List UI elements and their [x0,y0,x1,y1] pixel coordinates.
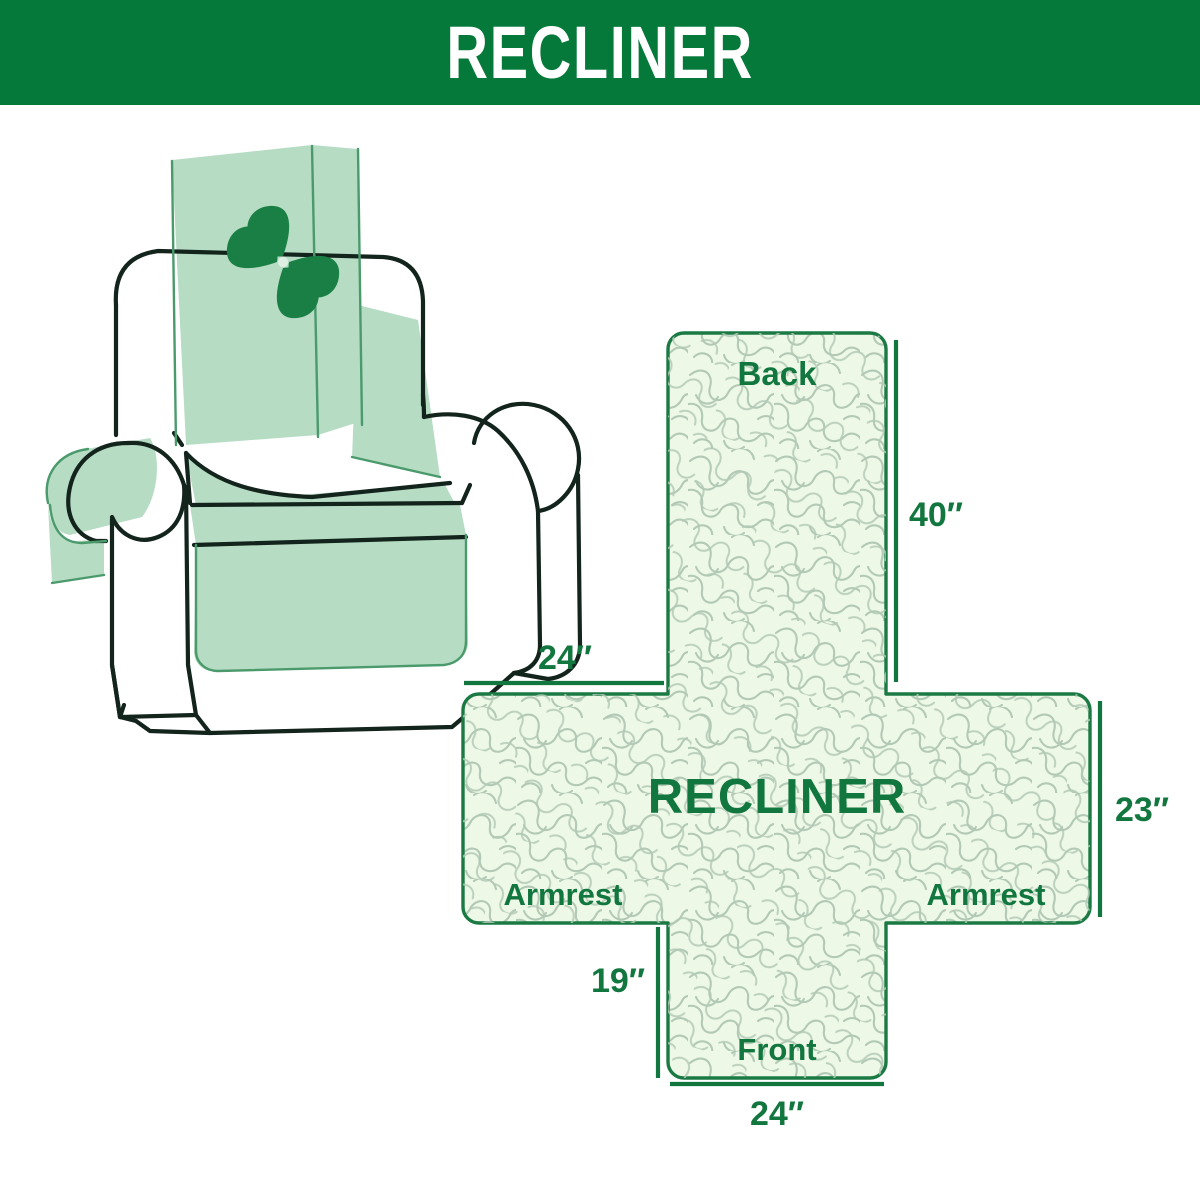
page-title: RECLINER [446,16,754,90]
panel-label-center: RECLINER [648,770,906,824]
diagram-stage: Back RECLINER Armrest Armrest Front 40″ [0,105,1200,1200]
header-banner: RECLINER [0,0,1200,105]
dimension-label-front-width: 24″ [750,1095,804,1133]
dimension-label-center-height: 23″ [1115,791,1169,829]
dimension-label-front-height: 19″ [591,962,645,1000]
panel-label-armrest-left: Armrest [504,877,623,912]
cover-texture-overlay [463,333,1090,1078]
panel-label-armrest-right: Armrest [927,877,1046,912]
recliner-cover-flat-pattern: Back RECLINER Armrest Armrest Front 40″ [463,333,1169,1133]
dimension-label-back-height: 40″ [909,496,963,534]
panel-label-back: Back [738,355,818,392]
recliner-chair-illustration [47,145,580,733]
dimension-label-armrest-width: 24″ [538,639,592,677]
panel-label-front: Front [737,1032,816,1067]
